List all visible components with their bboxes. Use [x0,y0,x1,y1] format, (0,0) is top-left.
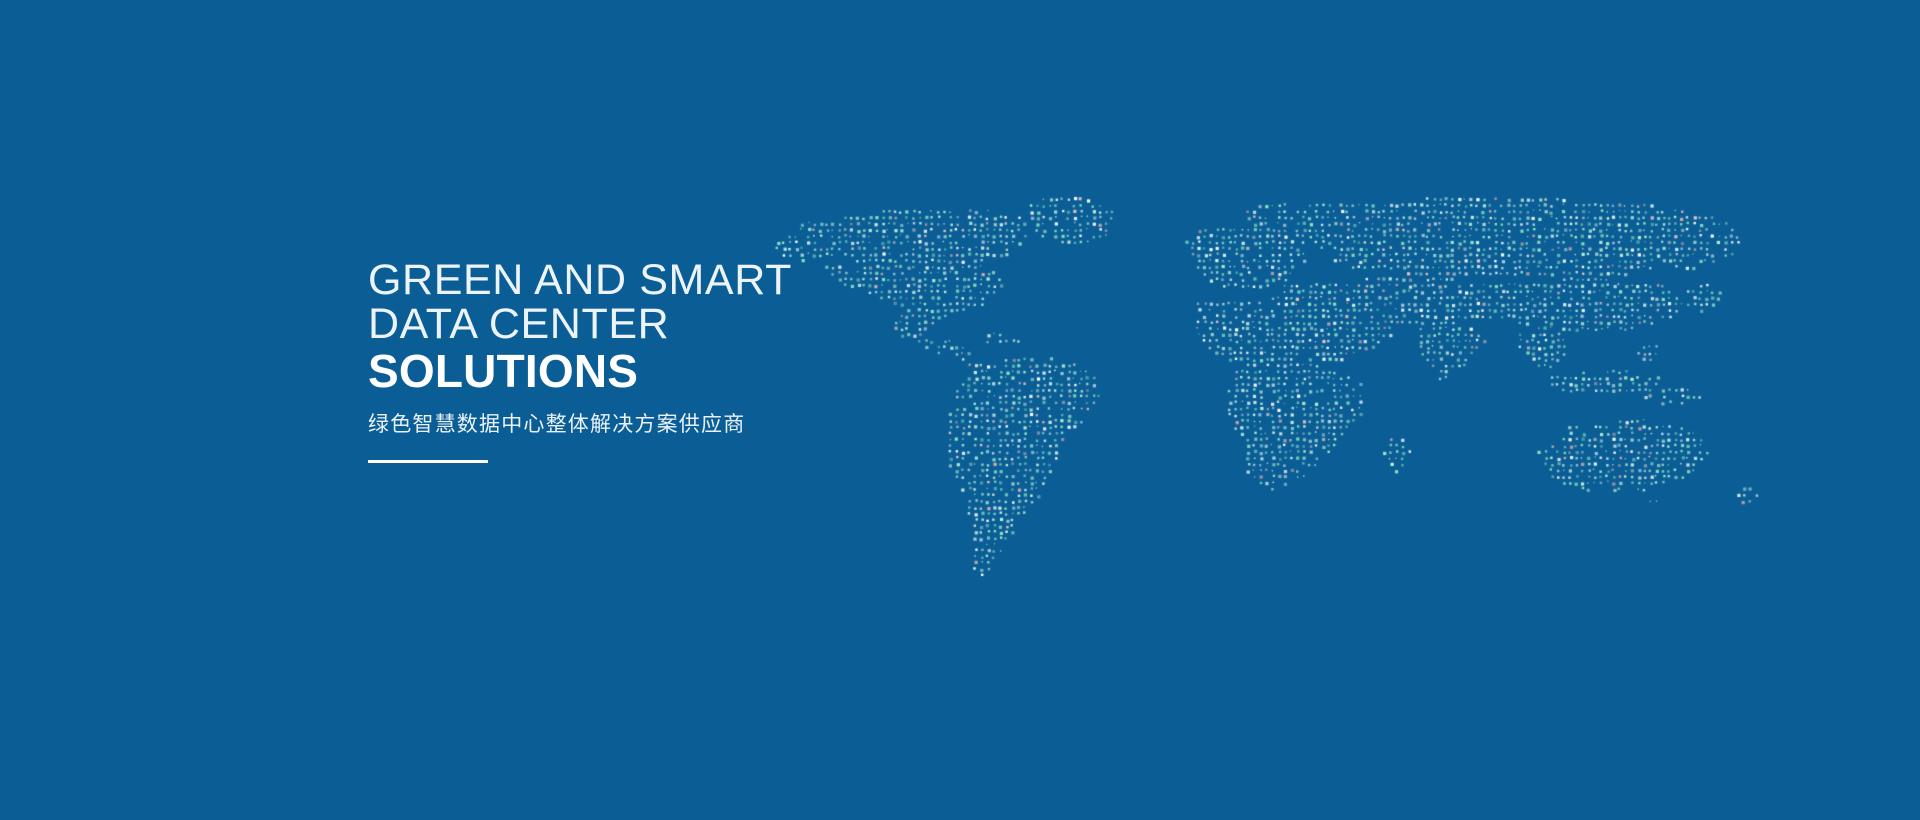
hero-subtitle: 绿色智慧数据中心整体解决方案供应商 [368,410,928,440]
world-dot-map-canvas [0,0,1920,820]
headline-line-1: GREEN AND SMART [368,258,928,302]
world-map [0,0,1920,820]
hero-banner: GREEN AND SMART DATA CENTER SOLUTIONS 绿色… [0,0,1920,820]
hero-text-block: GREEN AND SMART DATA CENTER SOLUTIONS 绿色… [368,258,928,463]
headline-line-3: SOLUTIONS [368,346,928,396]
headline-line-2: DATA CENTER [368,302,928,346]
hero-divider [368,460,488,463]
